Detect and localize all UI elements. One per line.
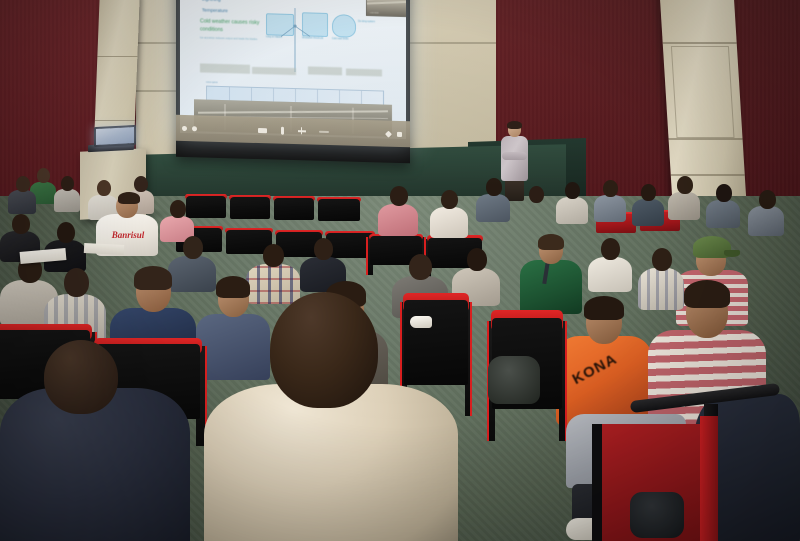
papers-on-seat[interactable]	[84, 243, 124, 255]
audience-person	[706, 184, 740, 226]
wind-turbine-icon	[278, 6, 312, 73]
audience-person	[588, 238, 632, 290]
player-left-controls[interactable]	[182, 125, 197, 130]
rewind-icon[interactable]	[182, 125, 187, 130]
waveform-icon[interactable]	[281, 127, 284, 135]
slide-grey-bar-3	[308, 66, 342, 75]
slide-grey-bar-4	[346, 68, 382, 76]
slide-bullet-lightning: Lightning	[202, 0, 221, 2]
add-icon[interactable]	[298, 128, 305, 134]
jersey-sponsor-text: Banrisul	[107, 230, 149, 240]
presenter-hair	[507, 121, 522, 129]
fullscreen-icon[interactable]	[385, 130, 392, 137]
audience-person	[748, 190, 784, 234]
audience-person	[8, 176, 36, 212]
stop-icon[interactable]	[397, 131, 402, 136]
audience-person	[632, 184, 664, 224]
progress-icon[interactable]	[319, 131, 329, 133]
play-icon[interactable]	[192, 126, 197, 131]
laptop-lid	[94, 125, 136, 147]
audience-person	[520, 186, 552, 226]
slide-strip-caption: Wind speed	[206, 82, 218, 84]
audience-person	[378, 186, 418, 234]
audience-foreground-navy	[0, 340, 190, 541]
shoe	[410, 316, 432, 328]
audience-person	[556, 182, 588, 222]
slide-diagram-label-4: De-icing system	[358, 20, 388, 24]
seat-empty[interactable]	[318, 199, 360, 230]
audience-person	[54, 176, 80, 210]
player-right-controls[interactable]	[386, 131, 402, 136]
backpack[interactable]	[488, 356, 540, 404]
audience-person	[160, 200, 194, 240]
audience-person	[430, 190, 468, 236]
seat-empty[interactable]	[274, 198, 314, 229]
audience-person	[476, 178, 510, 220]
slide-inset-caption: Live feed	[370, 12, 378, 14]
backpack[interactable]	[630, 492, 684, 538]
audience-person	[594, 180, 626, 220]
slide-diagram-box-3	[332, 14, 356, 38]
volume-icon[interactable]	[258, 128, 267, 133]
presenter-crossed-arms	[502, 152, 527, 160]
laptop-screen	[96, 127, 134, 145]
slide-grey-bar-1	[200, 63, 250, 73]
slide-green-subtext: Ice accretion reduces output and loads t…	[200, 36, 270, 42]
slide-inset-video: Live feed	[366, 0, 406, 17]
slide-diagram-label-3: Cold start limits	[332, 37, 356, 41]
seat-trim	[700, 416, 718, 541]
seat-edge	[592, 424, 602, 541]
seat-empty[interactable]	[230, 197, 270, 227]
slide-grey-bar-2	[252, 67, 296, 75]
audience-person	[668, 176, 700, 218]
auditorium-photo: Other Important Weather Phenomena Lightn…	[0, 0, 800, 541]
audience-foreground-beige	[204, 292, 458, 541]
slide-bullet-temperature: Temperature	[202, 7, 228, 13]
